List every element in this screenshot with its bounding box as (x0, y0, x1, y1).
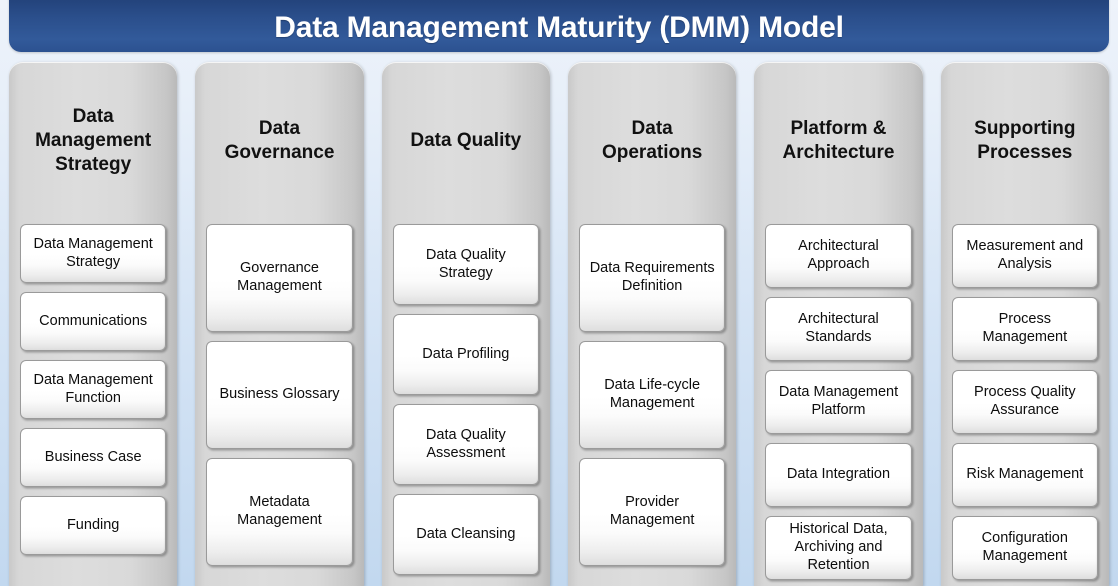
capability-card[interactable]: Data Life-cycle Management (579, 341, 725, 449)
capability-card[interactable]: Data Management Function (20, 360, 166, 419)
capability-list-platform-and-architecture: Architectural Approach Architectural Sta… (765, 224, 911, 586)
category-column-platform-and-architecture: Platform & Architecture Architectural Ap… (754, 62, 922, 586)
capability-card[interactable]: Communications (20, 292, 166, 351)
capability-card[interactable]: Data Profiling (393, 314, 539, 395)
capability-card[interactable]: Data Management Platform (765, 370, 911, 434)
category-header-supporting-processes: Supporting Processes (952, 62, 1098, 224)
capability-card[interactable]: Governance Management (206, 224, 352, 332)
capability-list-data-quality: Data Quality Strategy Data Profiling Dat… (393, 224, 539, 586)
capability-card[interactable]: Process Quality Assurance (952, 370, 1098, 434)
capability-card[interactable]: Architectural Standards (765, 297, 911, 361)
category-column-data-governance: Data Governance Governance Management Bu… (195, 62, 363, 586)
category-header-platform-and-architecture: Platform & Architecture (765, 62, 911, 224)
category-column-data-management-strategy: Data Management Strategy Data Management… (9, 62, 177, 586)
capability-list-supporting-processes: Measurement and Analysis Process Managem… (952, 224, 1098, 586)
category-header-data-management-strategy: Data Management Strategy (20, 62, 166, 224)
capability-card[interactable]: Funding (20, 496, 166, 555)
capability-card[interactable]: Risk Management (952, 443, 1098, 507)
category-column-data-operations: Data Operations Data Requirements Defini… (568, 62, 736, 586)
capability-card[interactable]: Data Integration (765, 443, 911, 507)
capability-card[interactable]: Measurement and Analysis (952, 224, 1098, 288)
page-title: Data Management Maturity (DMM) Model (274, 11, 844, 45)
capability-card[interactable]: Data Cleansing (393, 494, 539, 575)
capability-card[interactable]: Process Management (952, 297, 1098, 361)
capability-card[interactable]: Provider Management (579, 458, 725, 566)
category-header-data-quality: Data Quality (393, 62, 539, 224)
capability-list-data-management-strategy: Data Management Strategy Communications … (20, 224, 166, 586)
capability-card[interactable]: Business Case (20, 428, 166, 487)
capability-card[interactable]: Data Quality Assessment (393, 404, 539, 485)
capability-card[interactable]: Metadata Management (206, 458, 352, 566)
category-column-data-quality: Data Quality Data Quality Strategy Data … (382, 62, 550, 586)
capability-card[interactable]: Data Requirements Definition (579, 224, 725, 332)
capability-card[interactable]: Data Quality Strategy (393, 224, 539, 305)
category-header-data-governance: Data Governance (206, 62, 352, 224)
capability-card[interactable]: Configuration Management (952, 516, 1098, 580)
capability-list-data-governance: Governance Management Business Glossary … (206, 224, 352, 586)
capability-card[interactable]: Business Glossary (206, 341, 352, 449)
capability-card[interactable]: Architectural Approach (765, 224, 911, 288)
dmm-category-columns: Data Management Strategy Data Management… (0, 62, 1118, 586)
capability-card[interactable]: Data Management Strategy (20, 224, 166, 283)
title-banner: Data Management Maturity (DMM) Model (9, 0, 1109, 52)
capability-list-data-operations: Data Requirements Definition Data Life-c… (579, 224, 725, 586)
category-header-data-operations: Data Operations (579, 62, 725, 224)
capability-card[interactable]: Historical Data, Archiving and Retention (765, 516, 911, 580)
category-column-supporting-processes: Supporting Processes Measurement and Ana… (941, 62, 1109, 586)
